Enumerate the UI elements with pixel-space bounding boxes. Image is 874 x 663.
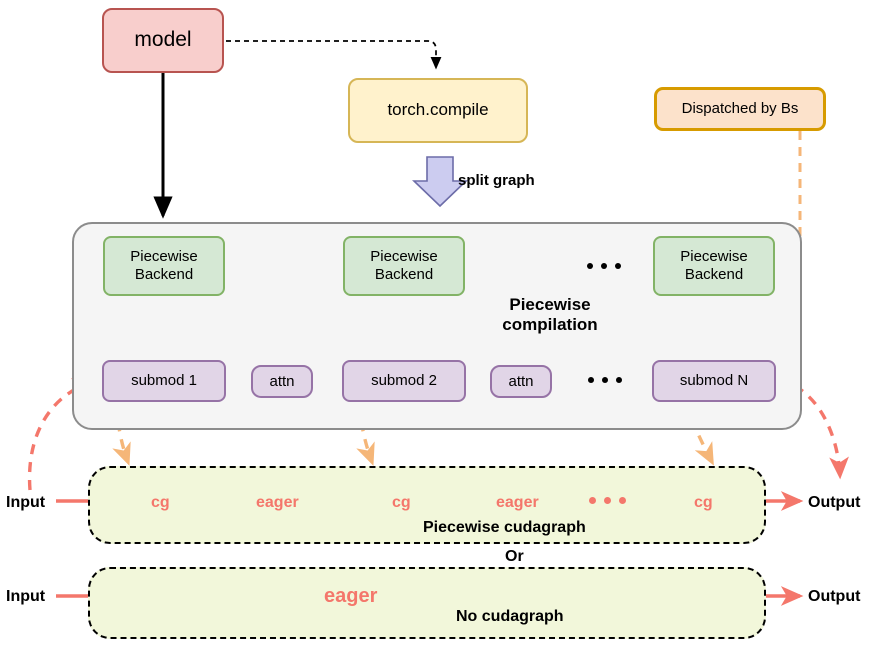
diagram-canvas: model torch.compile Dispatched by Bs spl…: [0, 0, 874, 663]
edge-model-to-compile: [226, 41, 436, 68]
torch-compile-label: torch.compile: [387, 100, 488, 120]
backend-3-line2: Backend: [685, 266, 743, 283]
pc-line1: Piecewise: [509, 295, 590, 315]
backend-ellipsis: [587, 263, 621, 269]
piecewise-compilation-label: Piecewise compilation: [462, 288, 638, 342]
dispatched-by-bs-box: Dispatched by Bs: [654, 87, 826, 131]
stage-cg-1: cg: [151, 494, 170, 512]
submod-box-2: submod 2: [342, 360, 466, 402]
output-label-2: Output: [808, 588, 860, 606]
no-cudagraph-title: No cudagraph: [456, 608, 564, 626]
input-label-2: Input: [6, 588, 45, 606]
model-box: model: [102, 8, 224, 73]
split-graph-label: split graph: [458, 170, 578, 192]
input-label-1: Input: [6, 494, 45, 512]
stage-eager-1: eager: [256, 494, 299, 512]
backend-1-line2: Backend: [135, 266, 193, 283]
backend-2-line1: Piecewise: [370, 248, 438, 265]
attn-box-1: attn: [251, 365, 313, 398]
stage-cg-3: cg: [694, 494, 713, 512]
backend-1-line1: Piecewise: [130, 248, 198, 265]
piecewise-backend-box-1: Piecewise Backend: [103, 236, 225, 296]
torch-compile-box: torch.compile: [348, 78, 528, 143]
stage-eager-2: eager: [496, 494, 539, 512]
submod-box-1: submod 1: [102, 360, 226, 402]
pc-line2: compilation: [502, 315, 597, 335]
model-label: model: [134, 28, 191, 53]
piecewise-backend-box-2: Piecewise Backend: [343, 236, 465, 296]
or-label: Or: [505, 548, 524, 566]
submod-box-n: submod N: [652, 360, 776, 402]
backend-2-line2: Backend: [375, 266, 433, 283]
dispatched-label: Dispatched by Bs: [682, 100, 799, 118]
attn-box-2: attn: [490, 365, 552, 398]
piecewise-backend-box-3: Piecewise Backend: [653, 236, 775, 296]
submod-ellipsis: [588, 377, 622, 383]
piecewise-cudagraph-title: Piecewise cudagraph: [423, 519, 586, 537]
cudagraph-ellipsis: [589, 497, 626, 504]
stage-eager-nocg: eager: [324, 585, 377, 608]
stage-cg-2: cg: [392, 494, 411, 512]
backend-3-line1: Piecewise: [680, 248, 748, 265]
output-label-1: Output: [808, 494, 860, 512]
no-cudagraph-lane: [88, 567, 766, 639]
